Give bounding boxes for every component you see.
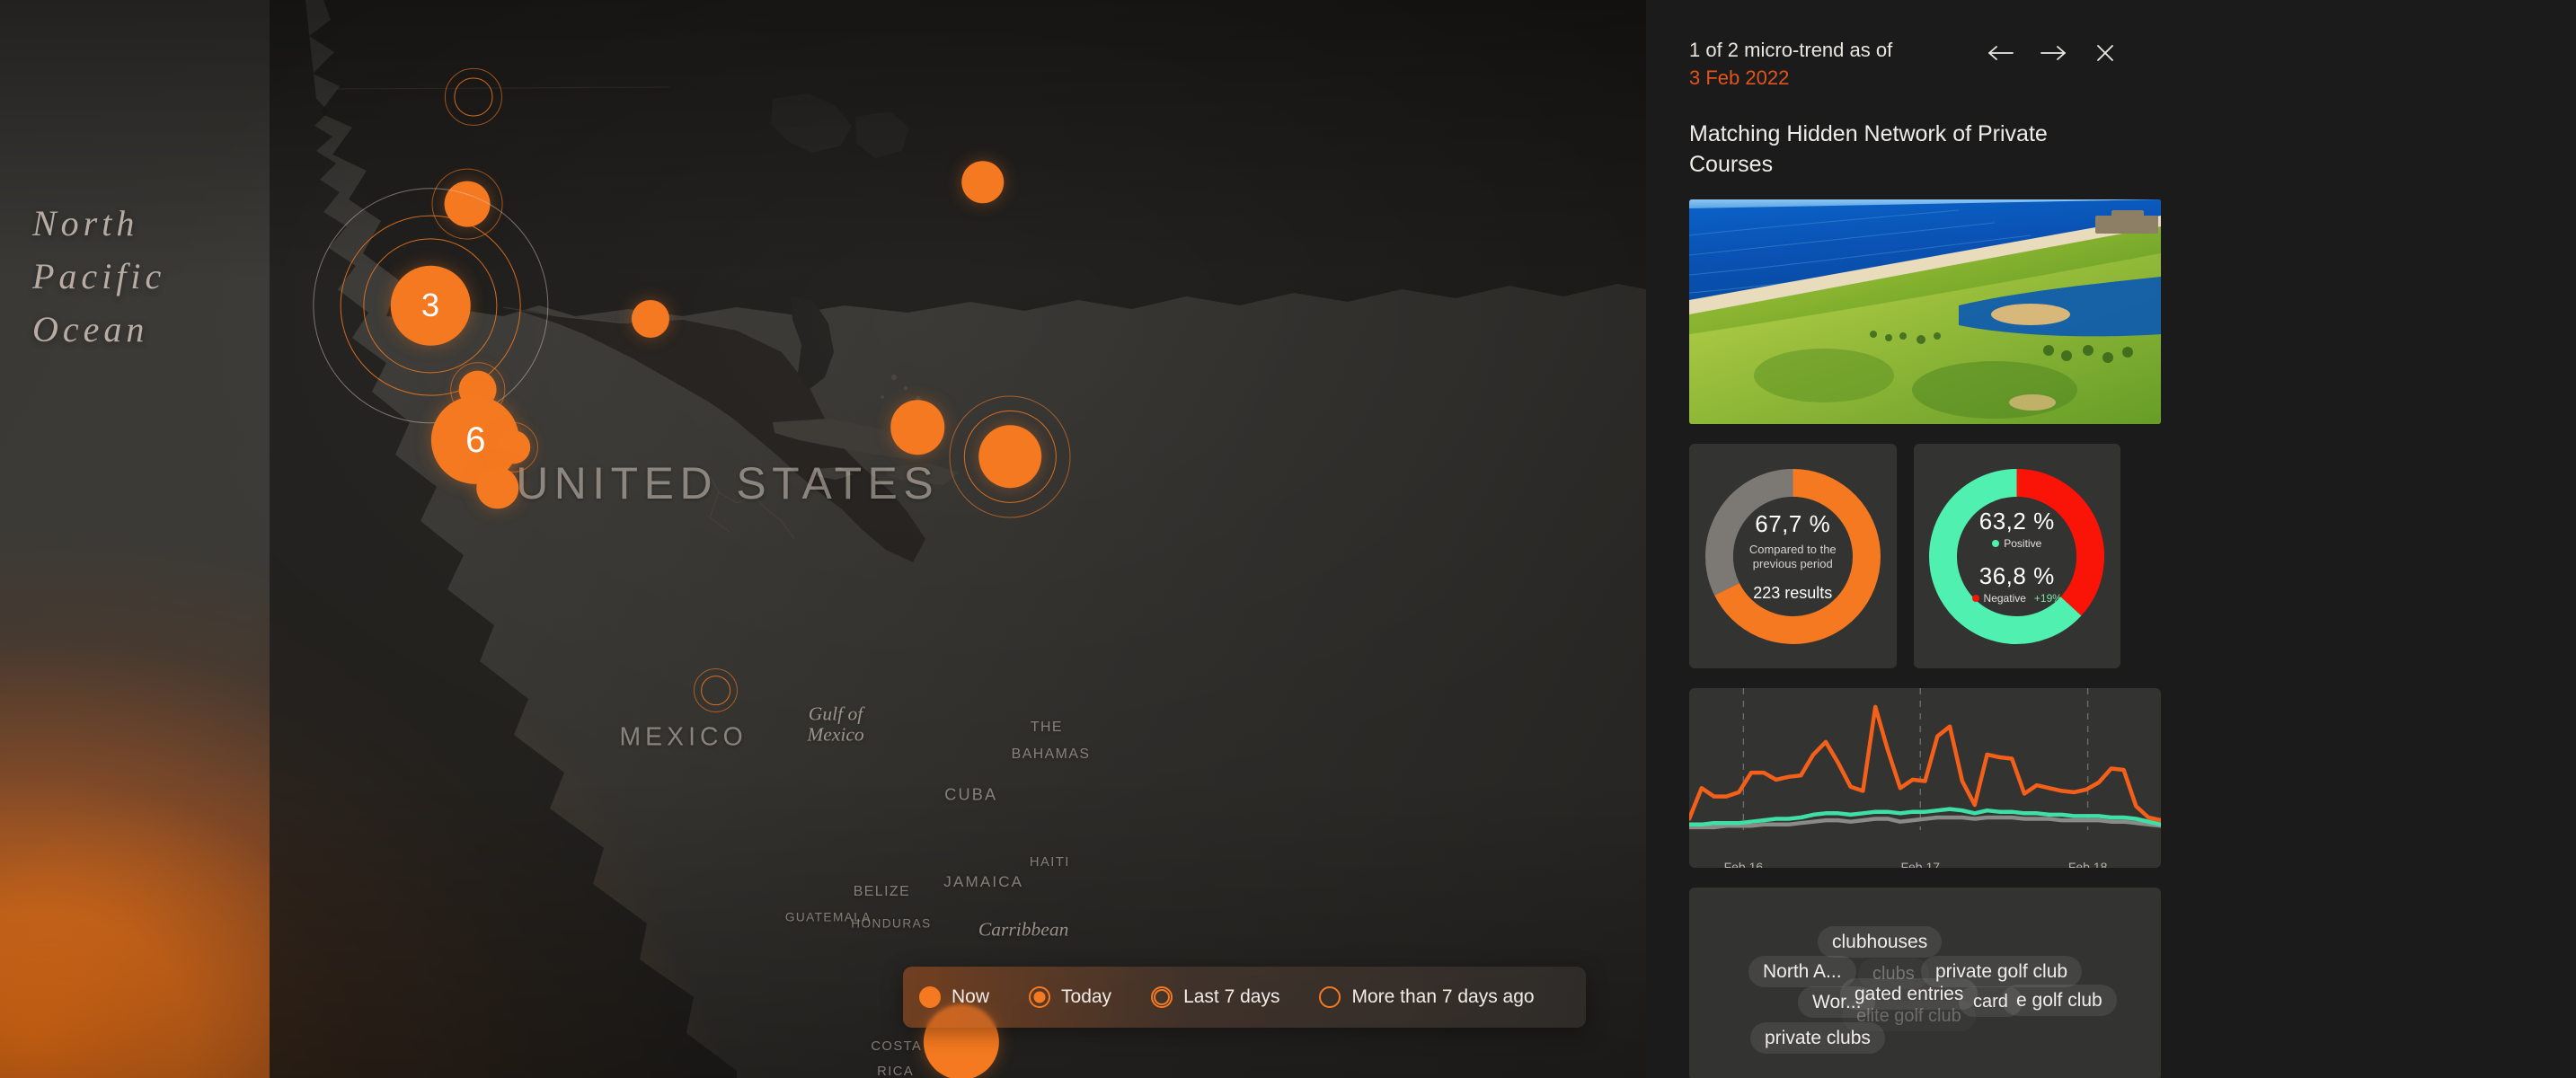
- ocean-label-line: North: [32, 202, 165, 244]
- bubble-core: [632, 300, 669, 338]
- ocean-label-north-pacific: North Pacific Ocean: [32, 202, 165, 350]
- metrics-row: 67,7 % Compared to the previous period 2…: [1689, 444, 2120, 668]
- world-map[interactable]: North Pacific Ocean UNITED STATESMEXICOC…: [0, 0, 1646, 1078]
- change-caption: Compared to the previous period: [1749, 543, 1837, 571]
- country-label: COSTA: [871, 1039, 922, 1054]
- change-caption-line1: Compared to the: [1749, 543, 1837, 557]
- sentiment-donut-card: 63,2 % Positive 36,8 % Negative +19%: [1914, 444, 2121, 668]
- bubble-northeast[interactable]: [949, 396, 1071, 518]
- change-donut: 67,7 % Compared to the previous period 2…: [1704, 468, 1881, 645]
- filled-dot-icon: [919, 986, 941, 1008]
- micro-trend-counter: 1 of 2 micro-trend as of: [1689, 39, 1892, 61]
- keyword-tag[interactable]: clubhouses: [1818, 926, 1942, 958]
- chart-x-tick: Feb 16: [1724, 860, 1764, 868]
- sea-label: Carribbean: [978, 920, 1069, 941]
- bubble-mexico-west[interactable]: [694, 668, 738, 712]
- keyword-tag[interactable]: private clubs: [1750, 1022, 1885, 1054]
- panel-header-actions: [1986, 36, 2120, 65]
- country-label: THE: [1031, 720, 1063, 736]
- arrow-left-icon[interactable]: [1986, 41, 2016, 65]
- legend-item-label: Now: [952, 986, 989, 1008]
- sentiment-delta: +19%: [2034, 592, 2062, 605]
- bubble-pacific-northwest[interactable]: [445, 68, 501, 125]
- country-label: CUBA: [944, 786, 997, 805]
- negative-dot-icon: [1972, 595, 1979, 602]
- trend-line-chart[interactable]: Feb 16Feb 17Feb 18: [1689, 688, 2161, 868]
- bubble-great-lakes[interactable]: [961, 162, 1004, 204]
- bubble-baja[interactable]: [476, 467, 518, 509]
- ring-dot-icon: [1029, 986, 1050, 1008]
- bubble-count-label: 3: [391, 266, 471, 346]
- sentiment-donut: 63,2 % Positive 36,8 % Negative +19%: [1928, 468, 2105, 645]
- bubble-ring: [455, 78, 492, 116]
- keyword-cloud[interactable]: clubhousesNorth A...private golf clubclu…: [1689, 888, 2161, 1078]
- map-time-legend[interactable]: NowTodayLast 7 daysMore than 7 days ago: [903, 967, 1586, 1028]
- chart-x-tick: Feb 17: [1900, 860, 1940, 868]
- panel-header: 1 of 2 micro-trend as of 3 Feb 2022: [1689, 36, 2120, 92]
- country-label: BAHAMAS: [1012, 747, 1091, 763]
- sea-label: Gulf ofMexico: [807, 703, 863, 746]
- micro-trend-dashboard: North Pacific Ocean UNITED STATESMEXICOC…: [0, 0, 2576, 1078]
- legend-item-label: Last 7 days: [1183, 986, 1279, 1008]
- bubble-core: [476, 467, 518, 509]
- close-icon[interactable]: [2090, 41, 2120, 65]
- country-label: HONDURAS: [851, 917, 931, 931]
- bubble-core: [890, 400, 945, 455]
- bubble-arizona[interactable]: [488, 422, 538, 473]
- micro-trend-title: Matching Hidden Network of Private Cours…: [1689, 119, 2120, 180]
- panel-meta: 1 of 2 micro-trend as of 3 Feb 2022: [1689, 36, 1892, 92]
- chart-x-tick: Feb 18: [2068, 860, 2108, 868]
- arrow-right-icon[interactable]: [2038, 41, 2068, 65]
- results-count: 223 results: [1753, 584, 1832, 603]
- negative-percent: 36,8 %: [1979, 562, 2055, 590]
- negative-legend: Negative +19%: [1972, 592, 2062, 605]
- micro-trend-detail-panel: 1 of 2 micro-trend as of 3 Feb 2022 Matc…: [1646, 0, 2576, 1078]
- country-label: UNITED STATES: [516, 457, 939, 509]
- legend-item-last-7-days[interactable]: Last 7 days: [1151, 986, 1279, 1008]
- bubble-core: [978, 425, 1041, 488]
- legend-item-label: Today: [1061, 986, 1111, 1008]
- legend-item-now[interactable]: Now: [919, 986, 989, 1008]
- positive-legend: Positive: [1992, 537, 2041, 550]
- bubble-midwest[interactable]: [632, 300, 669, 338]
- positive-dot-icon: [1992, 540, 1999, 547]
- bubble-ring: [701, 676, 730, 705]
- change-percent: 67,7 %: [1755, 510, 1830, 538]
- ocean-label-line: Pacific: [32, 255, 165, 297]
- country-label: HAITI: [1030, 855, 1070, 870]
- change-donut-card: 67,7 % Compared to the previous period 2…: [1689, 444, 1897, 668]
- double-ring-icon: [1151, 986, 1173, 1008]
- country-label: RICA: [877, 1065, 914, 1078]
- country-label: JAMAICA: [943, 873, 1023, 891]
- micro-trend-hero-image[interactable]: [1689, 199, 2161, 424]
- bubble-california-cluster[interactable]: 3: [313, 188, 548, 423]
- bubble-southeast[interactable]: [890, 400, 945, 455]
- change-caption-line2: previous period: [1749, 557, 1837, 571]
- legend-item-more-than-7-days-ago[interactable]: More than 7 days ago: [1319, 986, 1534, 1008]
- country-label: MEXICO: [619, 723, 747, 753]
- ocean-label-line: Ocean: [32, 308, 165, 350]
- keyword-tag[interactable]: e golf club: [2002, 985, 2117, 1016]
- hollow-ring-icon: [1319, 986, 1341, 1008]
- legend-item-today[interactable]: Today: [1029, 986, 1111, 1008]
- chart-series-mentions: [1689, 707, 2161, 820]
- keyword-tag[interactable]: North A...: [1748, 956, 1856, 987]
- positive-label: Positive: [2004, 537, 2041, 550]
- negative-label: Negative: [1984, 592, 2026, 605]
- micro-trend-date: 3 Feb 2022: [1689, 64, 1892, 92]
- legend-item-label: More than 7 days ago: [1351, 986, 1534, 1008]
- country-label: BELIZE: [854, 884, 910, 900]
- bubble-core: [961, 162, 1004, 204]
- positive-percent: 63,2 %: [1979, 508, 2055, 535]
